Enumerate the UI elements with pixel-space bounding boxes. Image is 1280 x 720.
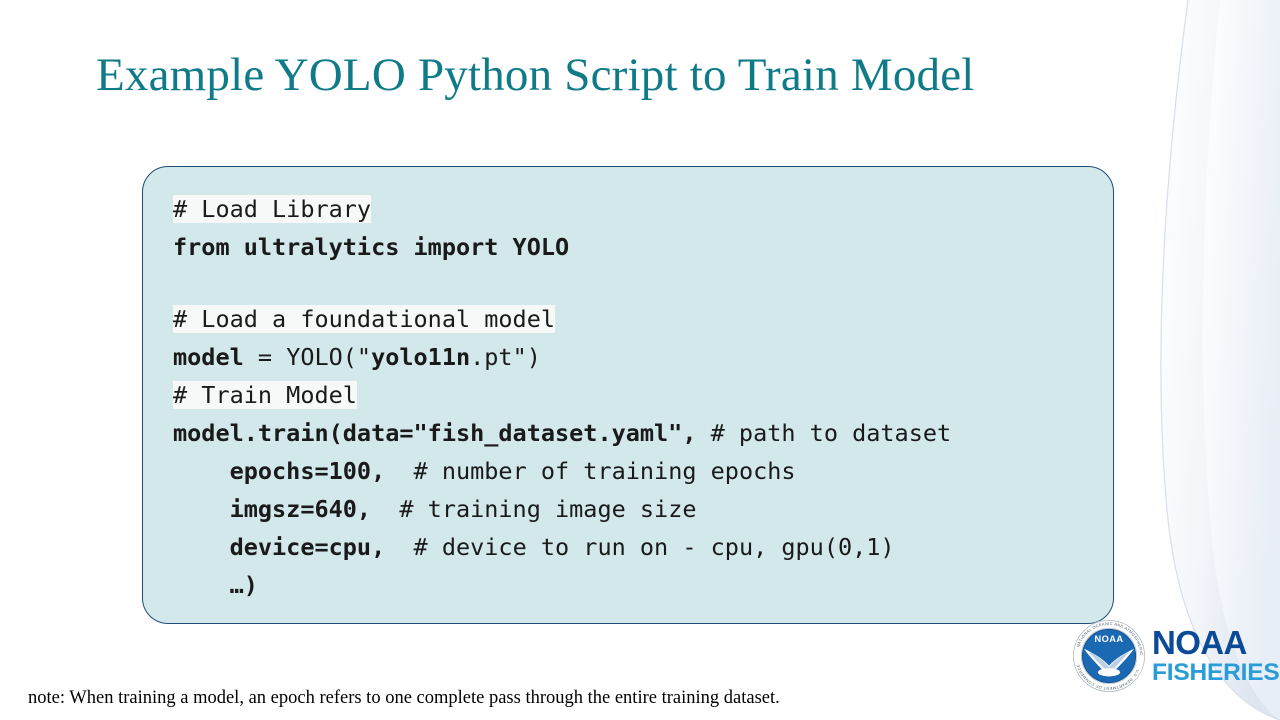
code-line-9: imgsz=640, # training image size: [173, 490, 1105, 528]
code-block: # Load Libraryfrom ultralytics import YO…: [173, 190, 1105, 604]
code-line-5: model = YOLO("yolo11n.pt"): [173, 338, 1105, 376]
code-statement: from ultralytics import YOLO: [173, 233, 569, 261]
code-statement: …): [173, 571, 258, 599]
noaa-fisheries-logo: NATIONAL OCEANIC AND ATMOSPHERIC ADM U.S…: [1072, 618, 1272, 694]
page-title: Example YOLO Python Script to Train Mode…: [96, 44, 1176, 106]
code-comment: # Train Model: [173, 381, 357, 409]
code-line-11: …): [173, 566, 1105, 604]
code-line-1: # Load Library: [173, 190, 1105, 228]
code-line-8: epochs=100, # number of training epochs: [173, 452, 1105, 490]
code-segment-2: # number of training epochs: [385, 457, 795, 485]
code-comment: # Load Library: [173, 195, 371, 223]
noaa-wordmark-top: NOAA: [1152, 626, 1280, 659]
code-segment-3: yolo11n: [371, 343, 470, 371]
code-line-6: # Train Model: [173, 376, 1105, 414]
code-statement: imgsz=640, # training image size: [173, 495, 697, 523]
code-line-3: [173, 266, 1105, 300]
svg-text:NOAA: NOAA: [1094, 634, 1123, 644]
footer-note: note: When training a model, an epoch re…: [28, 686, 780, 710]
code-segment-4: .pt"): [470, 343, 541, 371]
code-statement: epochs=100, # number of training epochs: [173, 457, 796, 485]
code-line-10: device=cpu, # device to run on - cpu, gp…: [173, 528, 1105, 566]
code-line-7: model.train(data="fish_dataset.yaml", # …: [173, 414, 1105, 452]
noaa-wordmark: NOAA FISHERIES: [1152, 626, 1280, 686]
code-segment-2: # training image size: [371, 495, 696, 523]
code-segment-1: imgsz=640,: [173, 495, 371, 523]
noaa-seal-icon: NATIONAL OCEANIC AND ATMOSPHERIC ADM U.S…: [1072, 619, 1146, 693]
code-statement: device=cpu, # device to run on - cpu, gp…: [173, 533, 895, 561]
code-segment-1: model.train(data="fish_dataset.yaml",: [173, 419, 696, 447]
code-segment-1: epochs=100,: [173, 457, 385, 485]
code-segment-2: # path to dataset: [696, 419, 951, 447]
code-segment-1: model: [173, 343, 244, 371]
code-statement: model.train(data="fish_dataset.yaml", # …: [173, 419, 951, 447]
code-snippet-card: # Load Libraryfrom ultralytics import YO…: [142, 166, 1114, 624]
code-line-4: # Load a foundational model: [173, 300, 1105, 338]
code-segment-1: device=cpu,: [173, 533, 385, 561]
code-segment-2: = YOLO(": [244, 343, 371, 371]
noaa-wordmark-bottom: FISHERIES: [1152, 661, 1280, 686]
code-statement: model = YOLO("yolo11n.pt"): [173, 343, 541, 371]
code-segment-2: # device to run on - cpu, gpu(0,1): [385, 533, 894, 561]
code-comment: # Load a foundational model: [173, 305, 555, 333]
code-line-2: from ultralytics import YOLO: [173, 228, 1105, 266]
